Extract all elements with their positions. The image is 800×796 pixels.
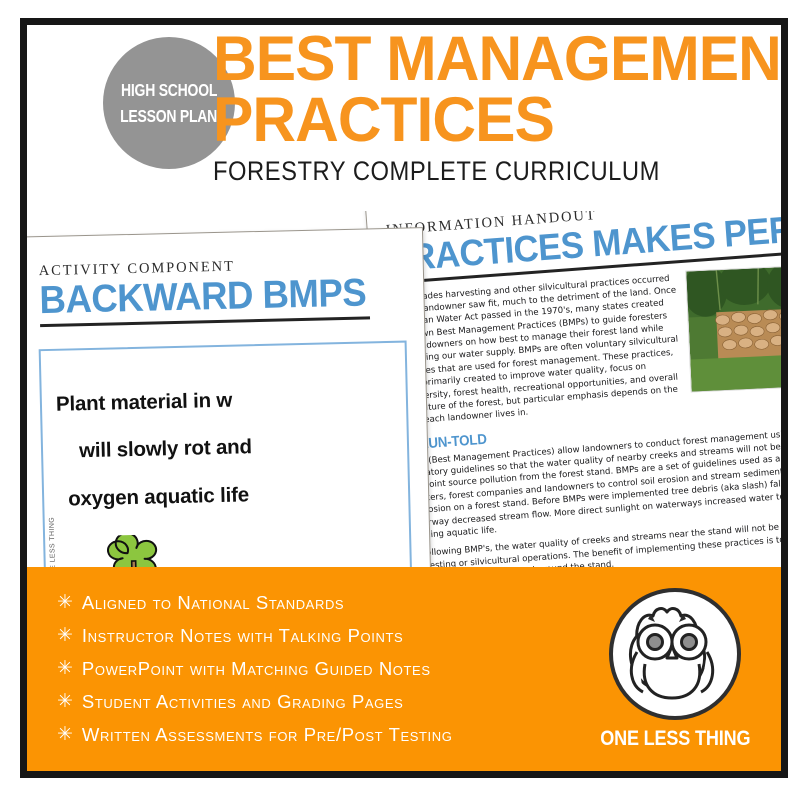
feature-label-3: PowerPoint with Matching Guided Notes [82, 658, 431, 680]
activity-card: Plant material in w will slowly rot and … [39, 340, 413, 583]
logs-photo-graphic [686, 264, 781, 392]
page-subtitle: FORESTRY COMPLETE CURRICULUM [213, 156, 706, 187]
poster-frame: HIGH SCHOOL LESSON PLAN BEST MANAGEMENT … [20, 18, 788, 778]
feature-item-1: ✳ Aligned to National Standards [57, 592, 585, 614]
card-line-3: oxygen aquatic life [68, 481, 398, 509]
feature-label-1: Aligned to National Standards [82, 592, 344, 614]
feature-item-3: ✳ PowerPoint with Matching Guided Notes [57, 658, 585, 680]
owl-logo [609, 588, 741, 720]
owl-icon [615, 594, 735, 714]
feature-item-5: ✳ Written Assessments for Pre/Post Testi… [57, 724, 585, 746]
asterisk-icon: ✳ [57, 626, 73, 645]
log-stack [715, 307, 781, 360]
asterisk-icon: ✳ [57, 593, 73, 612]
activity-title: BACKWARD BMPS [39, 273, 380, 320]
feature-item-4: ✳ Student Activities and Grading Pages [57, 691, 585, 713]
feature-list: ✳ Aligned to National Standards ✳ Instru… [27, 592, 585, 746]
logs-photo [685, 263, 781, 392]
page-title-line-1: BEST MANAGEMENT [213, 30, 751, 89]
card-line-2: will slowly rot and [79, 434, 397, 462]
badge-line-1: HIGH SCHOOL [121, 80, 217, 101]
handout-body: For decades harvesting and other silvicu… [390, 260, 781, 583]
activity-component-page: ACTIVITY COMPONENT BACKWARD BMPS Plant m… [27, 227, 432, 583]
document-preview-stage: INFORMATION HANDOUT PRACTICES MAKES PERF… [27, 211, 781, 583]
feature-label-5: Written Assessments for Pre/Post Testing [82, 724, 453, 746]
feature-bar: ✳ Aligned to National Standards ✳ Instru… [27, 567, 781, 771]
product-thumbnail: HIGH SCHOOL LESSON PLAN BEST MANAGEMENT … [0, 0, 800, 796]
asterisk-icon: ✳ [57, 725, 73, 744]
asterisk-icon: ✳ [57, 659, 73, 678]
badge-line-2: LESSON PLAN [121, 106, 218, 127]
asterisk-icon: ✳ [57, 692, 73, 711]
feature-label-2: Instructor Notes with Talking Points [82, 625, 403, 647]
page-title-line-2: PRACTICES [213, 91, 751, 150]
brand-name: ONE LESS THING [600, 727, 750, 751]
header-section: HIGH SCHOOL LESSON PLAN BEST MANAGEMENT … [27, 25, 781, 215]
feature-item-2: ✳ Instructor Notes with Talking Points [57, 625, 585, 647]
brand-block: ONE LESS THING [585, 588, 781, 751]
feature-label-4: Student Activities and Grading Pages [82, 691, 404, 713]
title-block: BEST MANAGEMENT PRACTICES FORESTRY COMPL… [213, 30, 773, 187]
card-line-1: Plant material in w [56, 386, 396, 415]
